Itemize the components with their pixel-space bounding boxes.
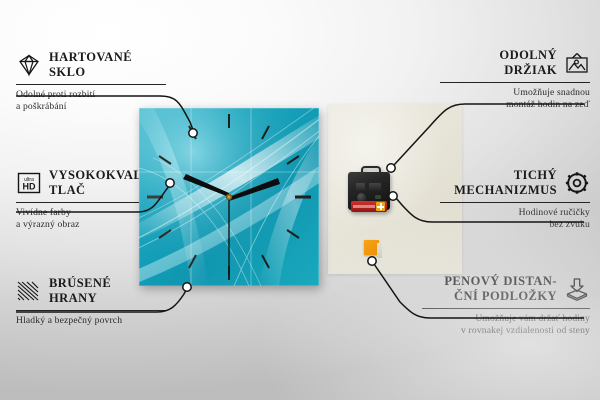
clock-mechanism [348,166,390,210]
beveled-edge-icon [16,279,42,303]
feature-title: PENOVÝ DISTAN- ČNÍ PODLOŽKY [444,274,557,304]
ultra-hd-icon: ultra HD [16,171,42,195]
feature-sub-2: bez zvuku [440,219,590,231]
battery-plus-icon [376,202,385,211]
feature-sub-1: Umožňuje snadnou [440,87,590,99]
feature-foam-spacers: PENOVÝ DISTAN- ČNÍ PODLOŽKY Umožňuje vám… [422,274,590,337]
divider [440,202,590,203]
feature-header: ODOLNÝ DRŽIAK [440,48,590,78]
feature-sub-2: v rovnakej vzdialenosti od steny [422,325,590,337]
foam-spacer-icon [564,277,590,301]
clock-product-image [139,108,319,286]
mechanism-body [348,172,390,210]
divider [16,310,166,311]
foam-spacer-pad [364,240,382,258]
feature-sub-1: Hladký a bezpečný povrch [16,315,166,327]
feature-title: TICHÝ MECHANIZMUS [454,168,557,198]
feature-title: BRÚSENÉ HRANY [49,276,111,306]
foam-pad-side [377,243,382,258]
feature-header: TICHÝ MECHANIZMUS [440,168,590,198]
clock-face [139,108,319,286]
feature-header: HARTOVANÉ SKLO [16,50,166,80]
mechanism-stud-left [356,183,365,190]
feature-header: PENOVÝ DISTAN- ČNÍ PODLOŽKY [422,274,590,304]
feature-tempered-glass: HARTOVANÉ SKLO Odolné proti rozbití a po… [16,50,166,113]
feature-title: ODOLNÝ DRŽIAK [499,48,557,78]
divider [16,84,166,85]
feature-sub-1: Hodinové ručičky [440,207,590,219]
feature-sub-1: Odolné proti rozbití [16,89,166,101]
feature-silent-mechanism: TICHÝ MECHANIZMUS [440,168,590,231]
battery [351,201,387,212]
mechanism-chip [375,195,381,199]
product-infographic: HARTOVANÉ SKLO Odolné proti rozbití a po… [0,0,600,400]
svg-text:HD: HD [23,182,36,192]
feature-sub-1: Umožňuje vám držať hodiny [422,313,590,325]
feature-durable-hanger: ODOLNÝ DRŽIAK Umožňuje snadnou montáž ho… [440,48,590,111]
picture-hanger-icon [564,51,590,75]
divider [440,82,590,83]
feature-title: HARTOVANÉ SKLO [49,50,132,80]
feature-sub-2: montáž hodin na zeď [440,99,590,111]
mechanism-stud-right [369,183,381,191]
diamond-icon [16,53,42,77]
gear-icon [564,171,590,195]
divider [422,308,590,309]
